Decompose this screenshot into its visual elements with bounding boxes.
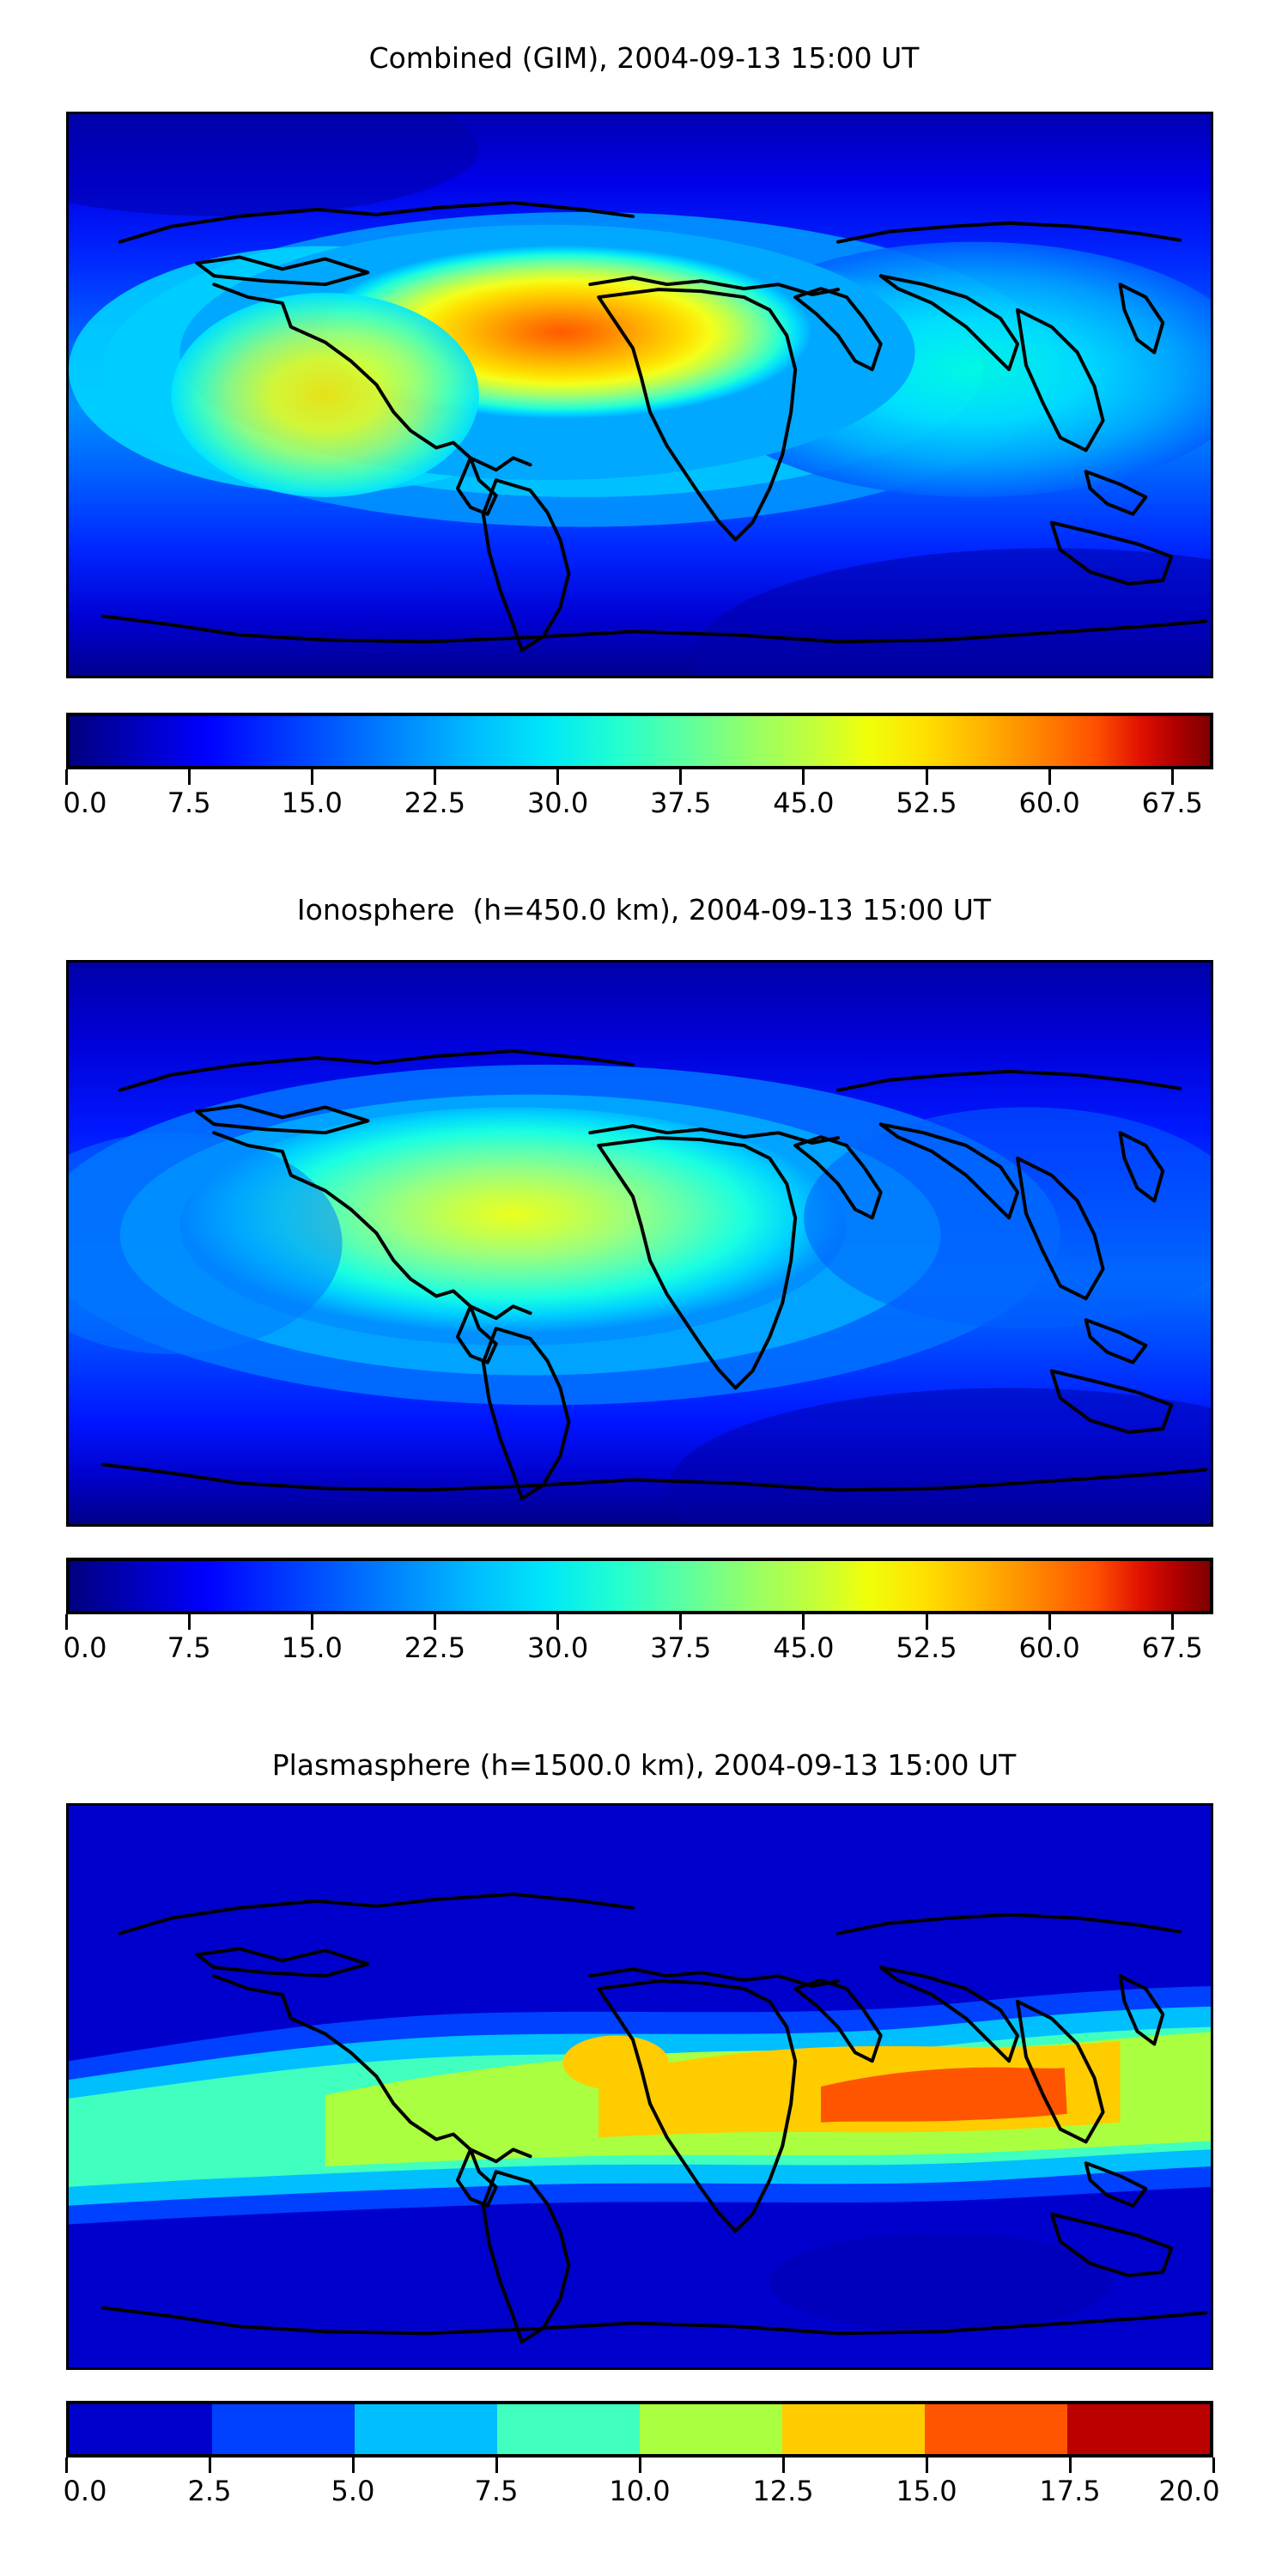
colorbar-tick [556, 769, 559, 785]
colorbar-tick [556, 1614, 559, 1630]
colorbar-tick [802, 769, 805, 785]
map-canvas-ionosphere [69, 963, 1211, 1524]
map-combined-gim [66, 112, 1213, 678]
panel-ionosphere: Ionosphere (h=450.0 km), 2004-09-13 15:0… [0, 859, 1288, 1717]
panel-title-ionosphere: Ionosphere (h=450.0 km), 2004-09-13 15:0… [0, 893, 1288, 927]
colorbar-gradient-plasmasphere [70, 2404, 1210, 2454]
colorbar-tick [926, 2458, 928, 2473]
colorbar-tick-label: 45.0 [773, 787, 834, 819]
map-ionosphere [66, 960, 1213, 1527]
colorbar-tick-label: 22.5 [404, 1631, 465, 1664]
colorbar-tick-label: 0.0 [64, 1631, 107, 1664]
colorbar-tick-label: 60.0 [1019, 787, 1080, 819]
panel-title-plasmasphere: Plasmasphere (h=1500.0 km), 2004-09-13 1… [0, 1748, 1288, 1782]
colorbar-ticks-combined [66, 769, 1213, 787]
colorbar-plasmasphere: 0.02.55.07.510.012.515.017.520.0 [66, 2401, 1213, 2521]
colorbar-ticks-ionosphere [66, 1614, 1213, 1631]
colorbar-tick [311, 769, 313, 785]
colorbar-tick [1048, 769, 1051, 785]
panel-title-combined: Combined (GIM), 2004-09-13 15:00 UT [0, 41, 1288, 75]
map-plasmasphere [66, 1803, 1213, 2370]
colorbar-tick [1048, 1614, 1051, 1630]
colorbar-tick-label: 15.0 [896, 2475, 957, 2507]
colorbar-tick [65, 769, 68, 785]
colorbar-tick-label: 10.0 [609, 2475, 670, 2507]
panel-plasmasphere: Plasmasphere (h=1500.0 km), 2004-09-13 1… [0, 1717, 1288, 2576]
colorbar-tick-label: 15.0 [282, 1631, 343, 1664]
colorbar-tick [495, 2458, 498, 2473]
colorbar-tick-label: 37.5 [650, 1631, 711, 1664]
figure-root: Combined (GIM), 2004-09-13 15:00 UT [0, 0, 1288, 2576]
colorbar-tick [188, 769, 191, 785]
colorbar-gradient-combined [70, 716, 1210, 766]
colorbar-tick-label: 0.0 [64, 2475, 107, 2507]
colorbar-tick-label: 52.5 [896, 1631, 957, 1664]
colorbar-tick [65, 2458, 68, 2473]
colorbar-ionosphere: 0.07.515.022.530.037.545.052.560.067.5 [66, 1558, 1213, 1678]
colorbar-tick-label: 2.5 [188, 2475, 232, 2507]
colorbar-tick [639, 2458, 641, 2473]
colorbar-tick-label: 5.0 [331, 2475, 375, 2507]
colorbar-tick-label: 67.5 [1142, 1631, 1203, 1664]
colorbar-tick-label: 67.5 [1142, 787, 1203, 819]
colorbar-tick [926, 769, 928, 785]
colorbar-tick-label: 17.5 [1039, 2475, 1100, 2507]
colorbar-tick-label: 30.0 [527, 1631, 588, 1664]
colorbar-bar-ionosphere [66, 1558, 1213, 1614]
colorbar-tick [352, 2458, 355, 2473]
colorbar-tick [926, 1614, 928, 1630]
colorbar-tick [1212, 2458, 1215, 2473]
colorbar-gradient-ionosphere [70, 1561, 1210, 1611]
colorbar-labels-combined: 0.07.515.022.530.037.545.052.560.067.5 [66, 787, 1213, 824]
map-canvas-combined [69, 114, 1211, 676]
colorbar-tick [1171, 1614, 1174, 1630]
colorbar-tick-label: 52.5 [896, 787, 957, 819]
colorbar-labels-plasmasphere: 0.02.55.07.510.012.515.017.520.0 [66, 2475, 1213, 2512]
colorbar-tick-label: 30.0 [527, 787, 588, 819]
colorbar-tick [679, 1614, 682, 1630]
colorbar-tick-label: 7.5 [475, 2475, 519, 2507]
colorbar-tick-label: 45.0 [773, 1631, 834, 1664]
colorbar-tick [782, 2458, 785, 2473]
colorbar-tick-label: 7.5 [167, 787, 211, 819]
map-canvas-plasmasphere [69, 1806, 1211, 2367]
colorbar-tick [434, 1614, 436, 1630]
colorbar-tick [188, 1614, 191, 1630]
colorbar-tick-label: 22.5 [404, 787, 465, 819]
colorbar-tick [311, 1614, 313, 1630]
panel-combined-gim: Combined (GIM), 2004-09-13 15:00 UT [0, 0, 1288, 859]
colorbar-tick [802, 1614, 805, 1630]
colorbar-tick-label: 15.0 [282, 787, 343, 819]
colorbar-tick [1171, 769, 1174, 785]
colorbar-tick-label: 12.5 [752, 2475, 813, 2507]
colorbar-tick [209, 2458, 211, 2473]
colorbar-tick-label: 20.0 [1158, 2475, 1219, 2507]
colorbar-tick-label: 7.5 [167, 1631, 211, 1664]
colorbar-bar-combined [66, 713, 1213, 769]
colorbar-ticks-plasmasphere [66, 2458, 1213, 2475]
colorbar-labels-ionosphere: 0.07.515.022.530.037.545.052.560.067.5 [66, 1631, 1213, 1669]
colorbar-tick [679, 769, 682, 785]
colorbar-bar-plasmasphere [66, 2401, 1213, 2458]
colorbar-tick [434, 769, 436, 785]
colorbar-combined: 0.07.515.022.530.037.545.052.560.067.5 [66, 713, 1213, 833]
colorbar-tick-label: 60.0 [1019, 1631, 1080, 1664]
colorbar-tick [1069, 2458, 1072, 2473]
colorbar-tick-label: 0.0 [64, 787, 107, 819]
colorbar-tick-label: 37.5 [650, 787, 711, 819]
colorbar-tick [65, 1614, 68, 1630]
